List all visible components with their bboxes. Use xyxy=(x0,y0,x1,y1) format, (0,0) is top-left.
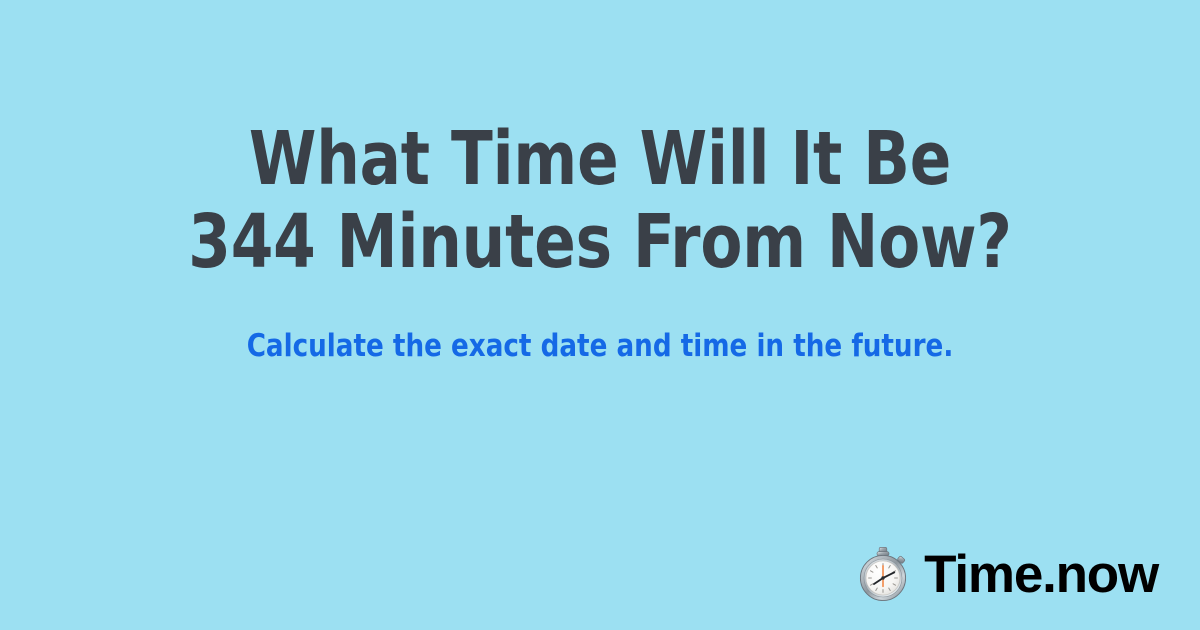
stopwatch-icon xyxy=(856,546,910,602)
og-card: What Time Will It Be 344 Minutes From No… xyxy=(0,0,1200,630)
page-title-line-1: What Time Will It Be xyxy=(112,118,1087,201)
page-subtitle: Calculate the exact date and time in the… xyxy=(102,328,1098,365)
page-title-line-2: 344 Minutes From Now? xyxy=(112,201,1087,284)
brand-logo[interactable]: Time.now xyxy=(856,546,1158,602)
brand-name: Time.now xyxy=(924,548,1158,601)
page-title: What Time Will It Be 344 Minutes From No… xyxy=(112,118,1087,284)
hero-section: What Time Will It Be 344 Minutes From No… xyxy=(0,0,1200,505)
